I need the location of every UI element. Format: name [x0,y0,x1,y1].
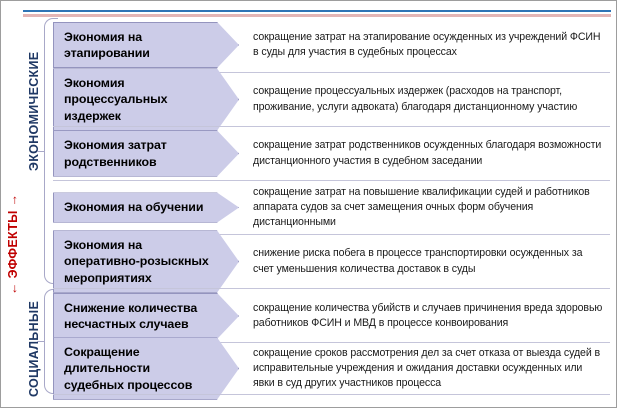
effect-description: сокращение сроков рассмотрения дел за сч… [239,342,610,395]
effect-description: снижение риска побега в процессе транспо… [239,242,610,280]
effect-chip[interactable]: Снижение количества несчастных случаев [53,293,239,339]
table-row[interactable]: Экономия на этапировании сокращение затр… [53,18,610,72]
effect-description: сокращение количества убийств и случаев … [239,297,610,335]
effect-chip-label: Экономия процессуальных издержек [64,75,212,123]
effect-chip[interactable]: Экономия на этапировании [53,22,239,68]
table-row[interactable]: Сокращение длительности судебных процесс… [53,342,610,394]
effect-chip[interactable]: Экономия затрат родственников [53,130,239,176]
table-row[interactable]: Экономия процессуальных издержек сокраще… [53,72,610,126]
table-row[interactable]: Снижение количества несчастных случаев с… [53,290,610,342]
effect-chip-label: Сокращение длительности судебных процесс… [64,344,212,392]
effect-description: сокращение процессуальных издержек (расх… [239,80,610,118]
effect-chip-label: Экономия на обучении [64,199,203,215]
table-row[interactable]: Экономия на оперативно-розыскных меропри… [53,234,610,288]
effect-chip[interactable]: Экономия на оперативно-розыскных меропри… [53,230,239,292]
effect-description: сокращение затрат на этапирование осужде… [239,26,610,64]
effect-description: сокращение затрат родственников осужденн… [239,134,610,172]
effect-chip-label: Экономия на этапировании [64,29,212,61]
effect-chip-label: Снижение количества несчастных случаев [64,300,212,332]
effect-chip-label: Экономия затрат родственников [64,137,212,169]
rows-container: Экономия на этапировании сокращение затр… [1,1,617,408]
effect-chip-label: Экономия на оперативно-розыскных меропри… [64,237,212,285]
table-row[interactable]: Экономия на обучении сокращение затрат н… [53,180,610,234]
group-divider [53,288,610,289]
effect-chip[interactable]: Экономия процессуальных издержек [53,68,239,130]
bottom-divider [53,394,610,395]
table-row[interactable]: Экономия затрат родственников сокращение… [53,126,610,180]
effect-description: сокращение затрат на повышение квалифика… [239,181,610,234]
diagram-slide: ЭКОНОМИЧЕСКИЕ СОЦИАЛЬНЫЕ ← ЭФФЕКТЫ → Эко… [0,0,617,408]
effect-chip[interactable]: Экономия на обучении [53,192,239,222]
effect-chip[interactable]: Сокращение длительности судебных процесс… [53,337,239,399]
